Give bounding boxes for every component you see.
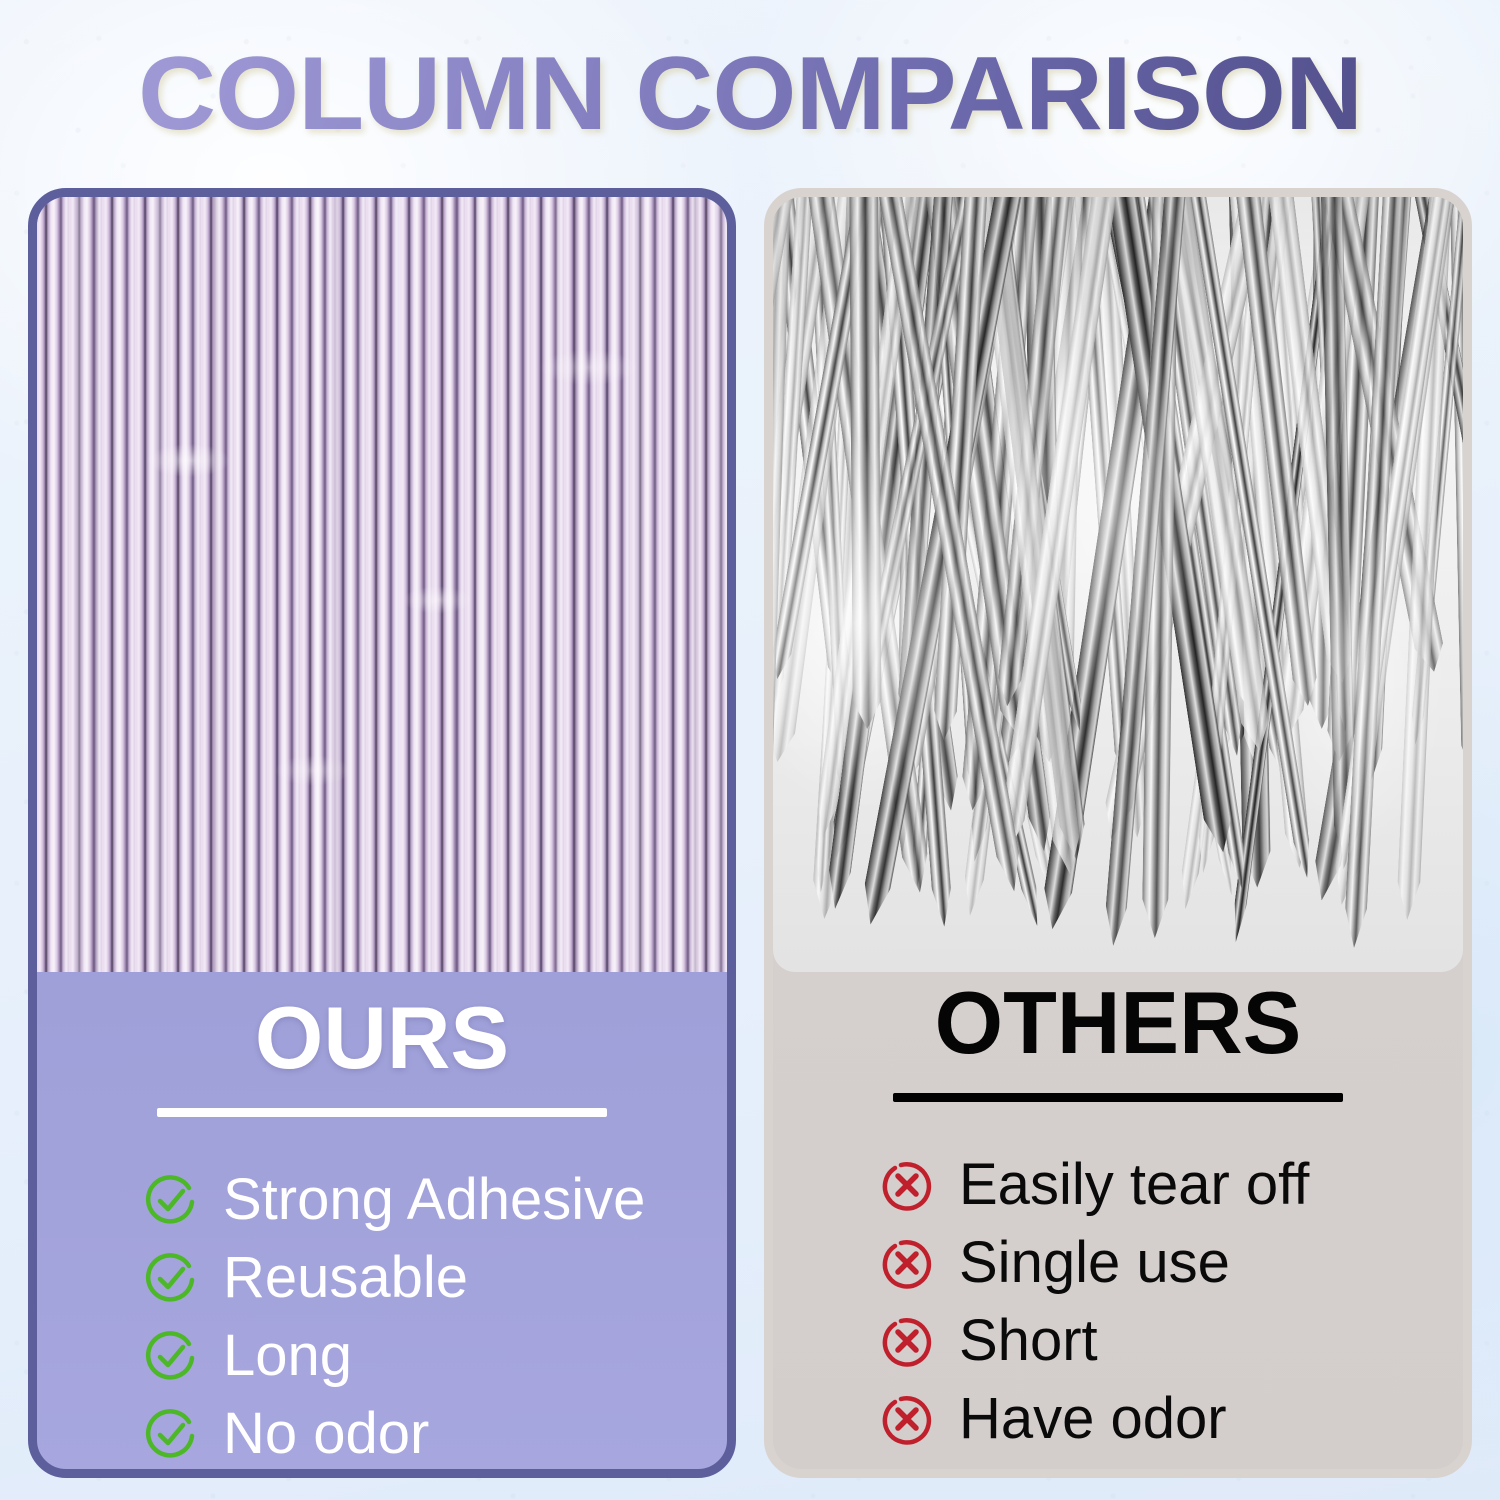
feature-label: Have odor: [959, 1390, 1227, 1448]
list-item: No odor: [145, 1395, 727, 1473]
list-item: Single use: [881, 1224, 1463, 1302]
feature-list-others: Easily tear off Single use Short: [773, 1146, 1463, 1458]
check-circle-icon: [145, 1252, 197, 1304]
panel-ours: OURS Strong Adhesive Reusable: [28, 188, 736, 1478]
page-title: COLUMN COMPARISON: [0, 42, 1500, 146]
feature-label: No odor: [223, 1405, 429, 1463]
silver-foil-fringe-image: [773, 197, 1463, 972]
list-item: Have odor: [881, 1380, 1463, 1458]
list-item: Easily tear off: [881, 1146, 1463, 1224]
check-circle-icon: [145, 1174, 197, 1226]
feature-label: Strong Adhesive: [223, 1171, 645, 1229]
feature-list-ours: Strong Adhesive Reusable Long: [37, 1161, 727, 1473]
cross-circle-icon: [881, 1237, 933, 1289]
panel-ours-divider: [157, 1108, 607, 1117]
check-circle-icon: [145, 1408, 197, 1460]
foil-strip: [849, 197, 882, 729]
cross-circle-icon: [881, 1393, 933, 1445]
comparison-infographic: COLUMN COMPARISON OURS Strong Adhesive: [0, 0, 1500, 1500]
feature-label: Reusable: [223, 1249, 468, 1307]
panel-ours-label-area: OURS Strong Adhesive Reusable: [37, 972, 727, 1469]
check-circle-icon: [145, 1330, 197, 1382]
list-item: Strong Adhesive: [145, 1161, 727, 1239]
list-item: Short: [881, 1302, 1463, 1380]
cross-circle-icon: [881, 1159, 933, 1211]
list-item: Reusable: [145, 1239, 727, 1317]
product-photo-ours: [37, 197, 727, 972]
feature-label: Short: [959, 1312, 1098, 1370]
panel-others-label-area: OTHERS Easily tear off Single use: [773, 957, 1463, 1469]
feature-label: Single use: [959, 1234, 1230, 1292]
lavender-foil-fringe-image: [37, 197, 727, 972]
list-item: Long: [145, 1317, 727, 1395]
feature-label: Long: [223, 1327, 352, 1385]
panel-others-heading: OTHERS: [773, 979, 1463, 1067]
feature-label: Easily tear off: [959, 1156, 1309, 1214]
product-photo-others: [773, 197, 1463, 972]
cross-circle-icon: [881, 1315, 933, 1367]
panel-others-divider: [893, 1093, 1343, 1102]
panel-others: OTHERS Easily tear off Single use: [764, 188, 1472, 1478]
panel-ours-heading: OURS: [37, 994, 727, 1082]
